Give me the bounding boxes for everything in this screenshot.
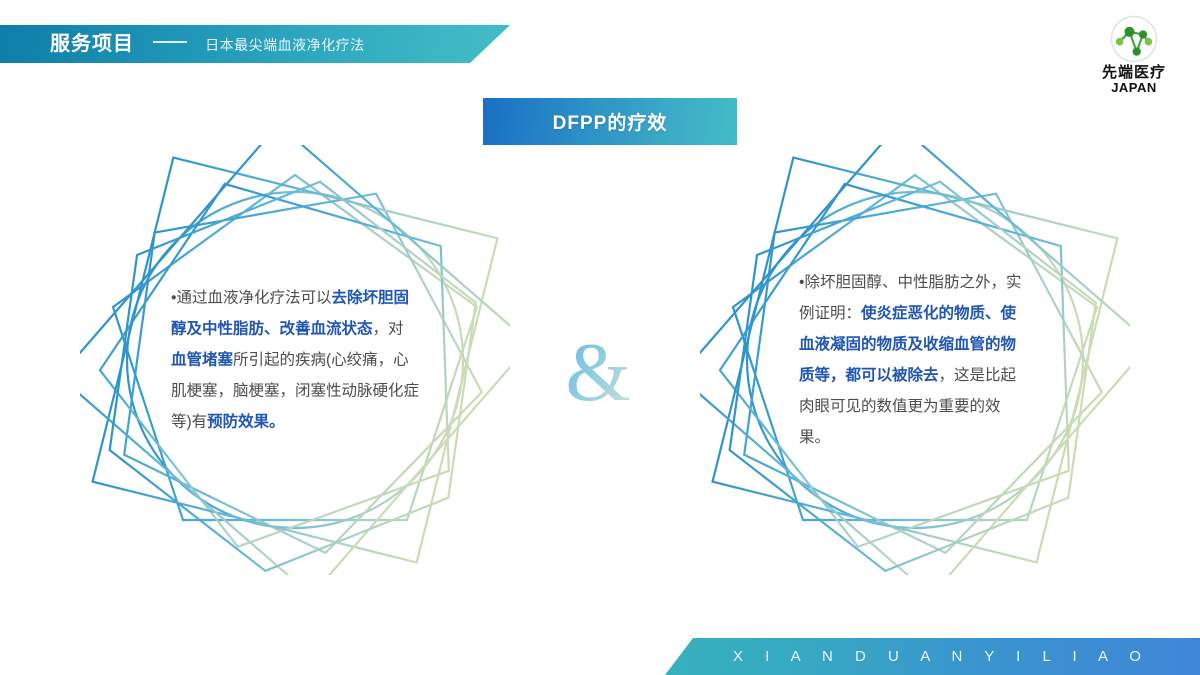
text-segment: 通过血液净化疗法可以 — [176, 290, 331, 307]
footer-bar: X I A N D U A N Y I L I A O — [665, 638, 1200, 675]
right-panel-text: •除坏胆固醇、中性脂肪之外，实例证明：使炎症恶化的物质、使血液凝固的物质及收缩血… — [799, 267, 1031, 453]
text-segment-highlight: 血管堵塞 — [171, 352, 233, 369]
header-divider-icon — [153, 41, 187, 43]
right-content-panel: •除坏胆固醇、中性脂肪之外，实例证明：使炎症恶化的物质、使血液凝固的物质及收缩血… — [700, 145, 1130, 575]
slide-root: 服务项目 日本最尖端血液净化疗法 先端医疗 JAPAN DFPP的疗效 — [0, 0, 1200, 675]
header-title-text: 服务项目 — [50, 33, 134, 55]
logo-name-cn: 先端医疗 — [1082, 64, 1186, 81]
footer-text: X I A N D U A N Y I L I A O — [715, 648, 1150, 665]
text-segment-highlight: 预防效果。 — [207, 414, 285, 431]
left-panel-text: •通过血液净化疗法可以去除坏胆固醇及中性脂肪、改善血流状态，对血管堵塞所引起的疾… — [171, 283, 419, 438]
brand-logo: 先端医疗 JAPAN — [1082, 12, 1186, 100]
text-segment: ，对 — [373, 321, 404, 338]
left-content-panel: •通过血液净化疗法可以去除坏胆固醇及中性脂肪、改善血流状态，对血管堵塞所引起的疾… — [80, 145, 510, 575]
header-title: 服务项目 日本最尖端血液净化疗法 — [50, 34, 365, 54]
logo-name-en: JAPAN — [1082, 81, 1186, 95]
molecule-network-icon — [1107, 12, 1161, 66]
section-title-text: DFPP的疗效 — [553, 108, 668, 135]
section-title-chip: DFPP的疗效 — [483, 98, 737, 145]
header-bar: 服务项目 日本最尖端血液净化疗法 — [0, 25, 510, 63]
ampersand-connector: & — [548, 325, 648, 420]
header-subtitle: 日本最尖端血液净化疗法 — [205, 37, 365, 53]
